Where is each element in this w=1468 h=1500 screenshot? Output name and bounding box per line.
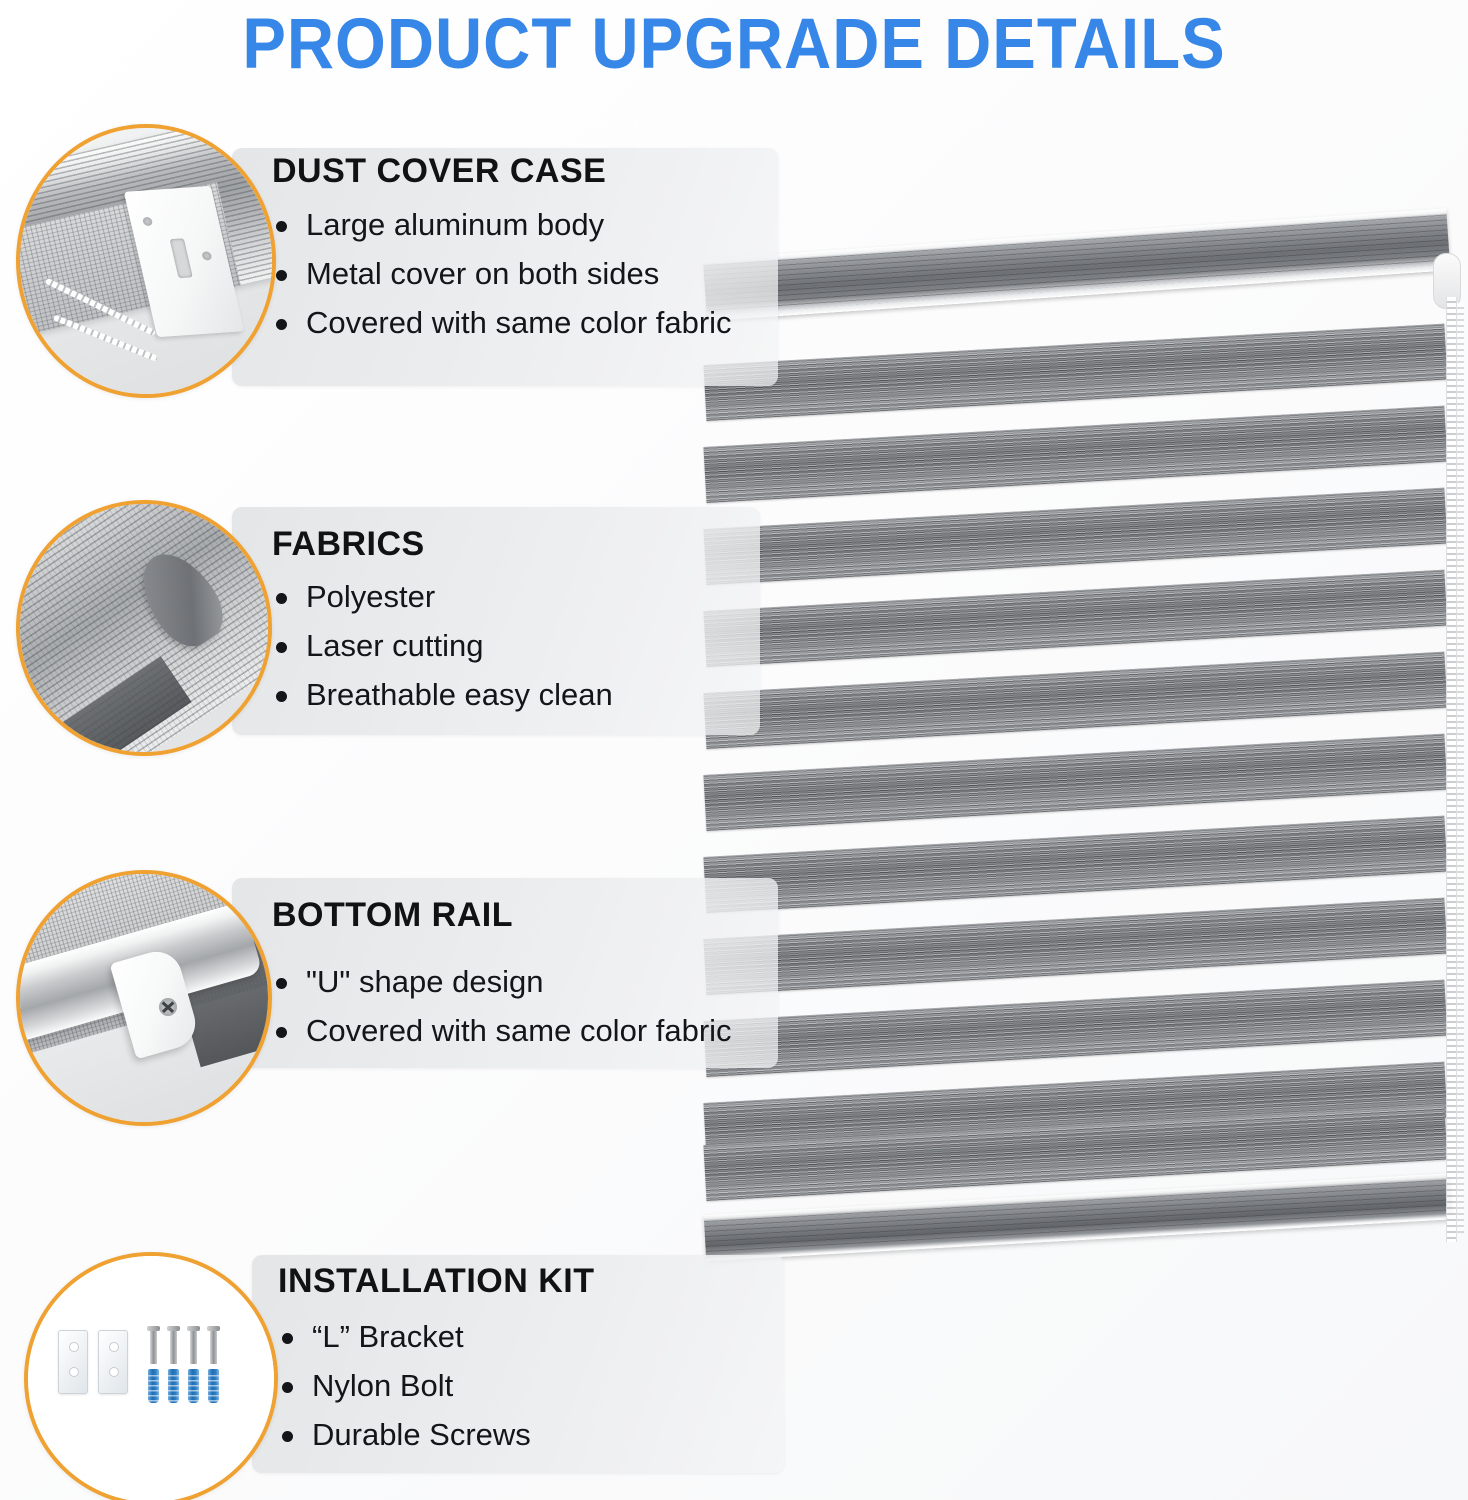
bullet-item: "U" shape design xyxy=(272,957,732,1006)
feature-heading-fabrics: FABRICS xyxy=(272,525,425,564)
bullet-item: Covered with same color fabric xyxy=(272,298,732,347)
screw-icon xyxy=(210,1330,217,1364)
wall-anchor-icon xyxy=(208,1369,219,1403)
blind-band xyxy=(703,734,1447,831)
bullet-item: Laser cutting xyxy=(272,621,613,670)
bullet-item: Metal cover on both sides xyxy=(272,249,732,298)
zebra-roller-blind xyxy=(705,225,1465,1300)
wall-anchor-icon xyxy=(188,1369,199,1403)
feature-bullets-fabrics: Polyester Laser cutting Breathable easy … xyxy=(272,572,613,719)
wall-anchor-icon xyxy=(168,1369,179,1403)
blind-band xyxy=(703,488,1447,585)
screw-icon xyxy=(150,1330,157,1364)
feature-heading-dust-cover-case: DUST COVER CASE xyxy=(272,152,606,191)
blind-band xyxy=(703,570,1447,667)
page-title: PRODUCT UPGRADE DETAILS xyxy=(0,2,1468,85)
blind-band xyxy=(703,324,1447,421)
screw-icon xyxy=(190,1330,197,1364)
blind-band xyxy=(703,980,1447,1077)
blind-band xyxy=(703,816,1447,913)
screw-icon xyxy=(170,1330,177,1364)
bullet-item: Large aluminum body xyxy=(272,200,732,249)
bead-chain[interactable] xyxy=(1446,297,1457,1242)
fabrics-photo xyxy=(16,500,272,756)
l-bracket-icon xyxy=(98,1330,128,1394)
bullet-item: Breathable easy clean xyxy=(272,670,613,719)
installation-kit-photo xyxy=(24,1252,278,1500)
feature-bullets-installation-kit: “L” Bracket Nylon Bolt Durable Screws xyxy=(278,1312,531,1459)
bullet-item: Durable Screws xyxy=(278,1410,531,1459)
feature-bullets-dust-cover-case: Large aluminum body Metal cover on both … xyxy=(272,200,732,347)
feature-heading-installation-kit: INSTALLATION KIT xyxy=(278,1262,594,1301)
feature-heading-bottom-rail: BOTTOM RAIL xyxy=(272,896,513,935)
bead-chain-secondary[interactable] xyxy=(1457,303,1464,1233)
blind-band xyxy=(703,406,1447,503)
bullet-item: “L” Bracket xyxy=(278,1312,531,1361)
l-bracket-icon xyxy=(58,1330,88,1394)
infographic-canvas: PRODUCT UPGRADE DETAILS DUST COVER CASE … xyxy=(0,0,1468,1500)
bullet-item: Nylon Bolt xyxy=(278,1361,531,1410)
dust-cover-case-photo xyxy=(16,124,276,398)
blind-band xyxy=(703,652,1447,749)
blind-band xyxy=(703,898,1447,995)
bottom-rail-photo xyxy=(16,870,272,1126)
bullet-item: Polyester xyxy=(272,572,613,621)
bullet-item: Covered with same color fabric xyxy=(272,1006,732,1055)
wall-anchor-icon xyxy=(148,1369,159,1403)
feature-bullets-bottom-rail: "U" shape design Covered with same color… xyxy=(272,957,732,1055)
blind-headrail xyxy=(703,208,1450,321)
